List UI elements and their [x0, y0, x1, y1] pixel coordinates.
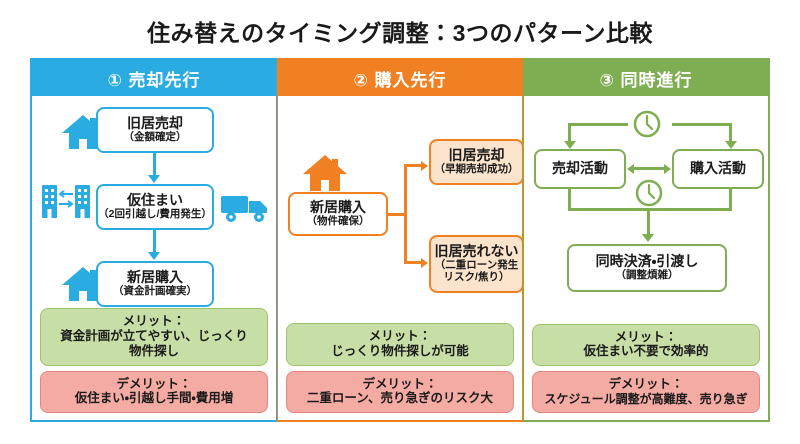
flow-node-buy-new-home: 新居購入 （物件確保）: [288, 192, 388, 236]
connector-line: [672, 123, 732, 126]
demerit-box-pattern-2: デメリット： 二重ローン、売り急ぎのリスク大: [286, 371, 514, 414]
connector-line: [404, 164, 407, 264]
arrow-right-icon: [421, 161, 428, 171]
connector-line: [153, 153, 156, 177]
column-body-pattern-1: 旧居売却 （金額確定）: [32, 96, 276, 420]
arrow-down-icon: [642, 234, 654, 242]
demerit-box-pattern-1: デメリット： 仮住まい・引越し手間・費用増: [40, 371, 268, 414]
column-body-pattern-3: 売却活動 購入活動: [524, 96, 768, 420]
verdict-group-pattern-1: メリット： 資金計画が立てやすい、じっくり 物件探し デメリット： 仮住まい・引…: [40, 308, 268, 413]
buildings-exchange-icon: [40, 178, 92, 227]
moving-truck-icon: [220, 191, 272, 230]
connector-line: [153, 230, 156, 254]
arrow-down-icon: [725, 141, 737, 149]
arrow-right-icon: [664, 164, 671, 174]
column-pattern-2: ② 購入先行 新居購入 （物件確保）: [277, 58, 523, 422]
verdict-group-pattern-3: メリット： 仮住まい不要で効率的 デメリット： スケジュール調整が高難度、売り急…: [532, 324, 760, 413]
comparison-frame: ① 売却先行 旧居売却 （金額確定）: [30, 58, 770, 422]
infographic-root: 住み替えのタイミング調整：3つのパターン比較 ① 売却先行 旧居売却 （金額確定…: [0, 0, 800, 444]
flow-node-selling-activity: 売却活動: [534, 149, 626, 189]
connector-line: [404, 164, 422, 167]
connector-line: [568, 123, 571, 143]
connector-line: [568, 123, 628, 126]
merit-box-pattern-2: メリット： じっくり物件探しが可能: [286, 323, 514, 366]
connector-line: [634, 167, 664, 170]
flow-node-buying-activity: 購入活動: [672, 149, 764, 189]
arrow-right-icon: [421, 258, 428, 268]
arrow-left-icon: [627, 164, 634, 174]
flow-node-sell-old-home: 旧居売却 （金額確定）: [96, 107, 214, 153]
connector-line: [404, 261, 422, 264]
column-body-pattern-2: 新居購入 （物件確保） 旧居売却 （早期売却成功） 旧居売れない: [278, 96, 522, 420]
clock-icon: [632, 109, 662, 144]
flow-node-temporary-housing: 仮住まい （2回引越し/費用発生）: [96, 184, 214, 230]
arrow-down-icon: [148, 175, 160, 183]
flow-node-old-home-sold: 旧居売却 （早期売却成功）: [429, 139, 524, 185]
demerit-box-pattern-3: デメリット： スケジュール調整が高難度、売り急ぎ: [532, 371, 760, 413]
arrow-down-icon: [564, 141, 576, 149]
column-pattern-1: ① 売却先行 旧居売却 （金額確定）: [30, 58, 277, 422]
column-header-pattern-1: ① 売却先行: [32, 60, 276, 96]
arrow-down-icon: [148, 252, 160, 260]
merit-box-pattern-3: メリット： 仮住まい不要で効率的: [532, 324, 760, 367]
merit-box-pattern-1: メリット： 資金計画が立てやすい、じっくり 物件探し: [40, 308, 268, 365]
verdict-group-pattern-2: メリット： じっくり物件探しが可能 デメリット： 二重ローン、売り急ぎのリスク大: [286, 323, 514, 413]
connector-line: [568, 208, 732, 211]
column-pattern-3: ③ 同時進行 売却活動: [523, 58, 770, 422]
flow-node-buy-new-home: 新居購入 （資金計画確実）: [96, 261, 214, 307]
flow-node-simultaneous-settlement: 同時決済・引渡し （調整煩雑）: [567, 244, 727, 292]
flow-node-old-home-unsold: 旧居売れない （二重ローン発生 リスク/焦り）: [429, 235, 524, 293]
page-title: 住み替えのタイミング調整：3つのパターン比較: [0, 14, 800, 48]
column-header-pattern-2: ② 購入先行: [278, 60, 522, 96]
connector-line: [729, 123, 732, 143]
connector-line: [647, 208, 650, 236]
column-header-pattern-3: ③ 同時進行: [524, 60, 768, 96]
